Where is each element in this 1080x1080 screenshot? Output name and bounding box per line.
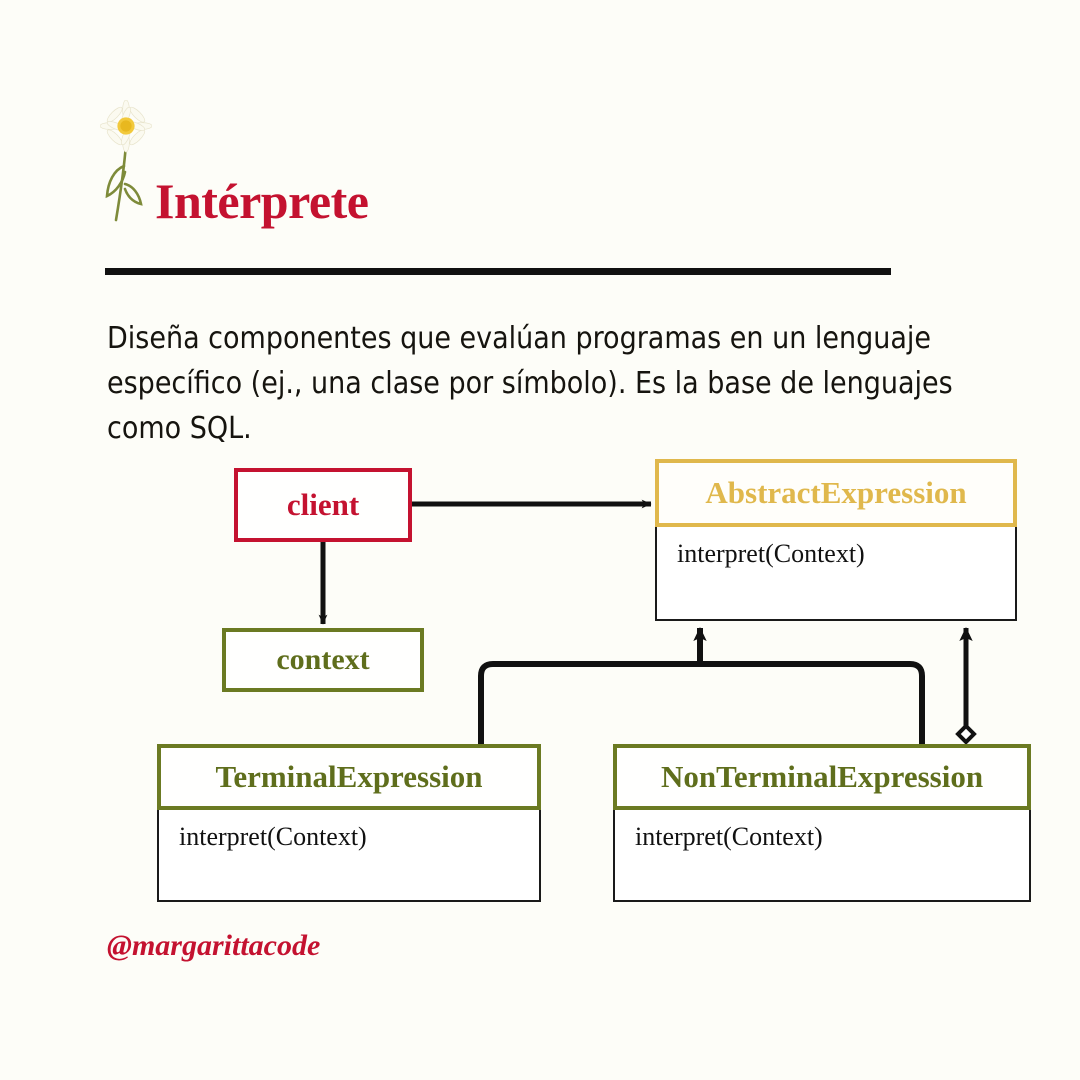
uml-box-nonterminal-expression[interactable]: NonTerminalExpression interpret(Context) — [613, 744, 1031, 902]
uml-box-client-title: client — [234, 468, 412, 542]
uml-box-nonterminal-expression-method: interpret(Context) — [613, 810, 1031, 902]
uml-box-context[interactable]: context — [222, 628, 424, 692]
uml-box-abstract-expression[interactable]: AbstractExpression interpret(Context) — [655, 459, 1017, 621]
aggregation-diamond — [958, 726, 974, 742]
connector-generalization-bracket — [481, 628, 922, 744]
uml-box-terminal-expression-title: TerminalExpression — [157, 744, 541, 810]
connector-aggregation-nonterminal-abstract — [958, 628, 974, 742]
slide-canvas: Intérprete Diseña componentes que evalúa… — [0, 0, 1080, 1080]
uml-box-abstract-expression-title: AbstractExpression — [655, 459, 1017, 527]
author-handle: @margarittacode — [107, 929, 320, 963]
uml-box-terminal-expression-method: interpret(Context) — [157, 810, 541, 902]
uml-box-context-title: context — [222, 628, 424, 692]
uml-box-abstract-expression-method: interpret(Context) — [655, 527, 1017, 621]
uml-box-client[interactable]: client — [234, 468, 412, 542]
uml-box-terminal-expression[interactable]: TerminalExpression interpret(Context) — [157, 744, 541, 902]
uml-box-nonterminal-expression-title: NonTerminalExpression — [613, 744, 1031, 810]
